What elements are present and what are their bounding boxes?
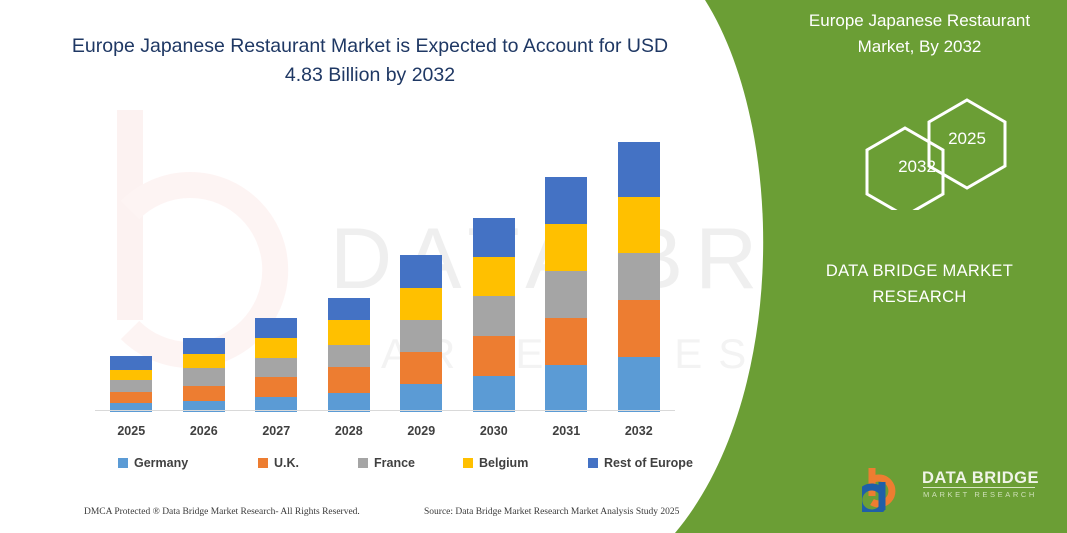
bar-segment-france-2031[interactable] [545,271,587,318]
legend-item-u-k-[interactable]: U.K. [258,456,299,470]
bar-2027[interactable] [255,318,297,413]
x-axis-label-2029: 2029 [385,424,457,438]
bar-segment-belgium-2032[interactable] [618,197,660,253]
bar-segment-belgium-2029[interactable] [400,288,442,320]
bar-segment-france-2027[interactable] [255,358,297,377]
stacked-bar-plot [95,120,675,412]
legend-swatch-icon [588,458,598,468]
legend-label: Germany [134,456,188,470]
hexagon-label-2032: 2032 [867,157,967,177]
infographic-root: DATA BRIDGE MARKET RESEARCH Europe Japan… [0,0,1067,533]
bar-2031[interactable] [545,177,587,412]
x-axis-label-2026: 2026 [168,424,240,438]
bar-segment-u-k--2032[interactable] [618,300,660,357]
bar-segment-rest-of-europe-2030[interactable] [473,218,515,257]
legend-item-belgium[interactable]: Belgium [463,456,528,470]
bar-segment-germany-2032[interactable] [618,357,660,412]
logo-tagline: MARKET RESEARCH [923,490,1037,499]
bar-segment-rest-of-europe-2031[interactable] [545,177,587,225]
bar-segment-rest-of-europe-2026[interactable] [183,338,225,354]
bar-segment-france-2032[interactable] [618,253,660,300]
x-axis-label-2027: 2027 [240,424,312,438]
x-axis-line [95,410,675,411]
legend-swatch-icon [463,458,473,468]
bar-segment-belgium-2026[interactable] [183,354,225,368]
logo-divider [923,487,1035,488]
bar-segment-france-2029[interactable] [400,320,442,352]
legend-swatch-icon [358,458,368,468]
x-axis-labels: 20252026202720282029203020312032 [95,424,675,444]
legend-label: U.K. [274,456,299,470]
footer-copyright: DMCA Protected ® Data Bridge Market Rese… [84,507,360,517]
bar-segment-belgium-2027[interactable] [255,338,297,357]
logo-name: DATA BRIDGE [922,469,1039,488]
bar-segment-france-2028[interactable] [328,345,370,368]
bar-segment-u-k--2031[interactable] [545,318,587,365]
bar-2032[interactable] [618,142,660,412]
bar-2025[interactable] [110,356,152,412]
panel-brand: DATA BRIDGE MARKET RESEARCH [787,258,1052,310]
hexagon-label-2025: 2025 [917,129,1017,149]
legend-item-germany[interactable]: Germany [118,456,188,470]
x-axis-label-2028: 2028 [313,424,385,438]
databridge-logo: DATA BRIDGE MARKET RESEARCH [862,466,1042,512]
bar-segment-rest-of-europe-2025[interactable] [110,356,152,371]
bar-segment-belgium-2028[interactable] [328,320,370,344]
bar-segment-u-k--2030[interactable] [473,336,515,376]
green-panel: Europe Japanese Restaurant Market, By 20… [667,0,1067,533]
bar-segment-u-k--2029[interactable] [400,352,442,384]
legend-label: France [374,456,415,470]
chart-legend: GermanyU.K.FranceBelgiumRest of Europe [118,456,678,474]
x-axis-label-2031: 2031 [530,424,602,438]
bar-2026[interactable] [183,338,225,412]
bar-segment-france-2030[interactable] [473,296,515,336]
legend-label: Belgium [479,456,528,470]
legend-swatch-icon [118,458,128,468]
legend-item-france[interactable]: France [358,456,415,470]
footer-source: Source: Data Bridge Market Research Mark… [424,507,679,517]
bar-segment-rest-of-europe-2032[interactable] [618,142,660,197]
bar-2030[interactable] [473,218,515,412]
bar-segment-belgium-2025[interactable] [110,370,152,380]
bar-segment-france-2025[interactable] [110,380,152,392]
bar-segment-u-k--2025[interactable] [110,392,152,403]
databridge-b-logo-icon [862,466,918,512]
legend-swatch-icon [258,458,268,468]
bar-segment-rest-of-europe-2029[interactable] [400,255,442,288]
bar-segment-rest-of-europe-2028[interactable] [328,298,370,321]
bar-segment-germany-2031[interactable] [545,365,587,412]
hexagon-group: 2032 2025 [787,95,1067,210]
bar-segment-germany-2030[interactable] [473,376,515,412]
panel-heading: Europe Japanese Restaurant Market, By 20… [787,8,1052,60]
bar-segment-u-k--2026[interactable] [183,386,225,401]
bar-2029[interactable] [400,255,442,412]
bar-segment-germany-2029[interactable] [400,384,442,412]
bar-segment-rest-of-europe-2027[interactable] [255,318,297,339]
bar-segment-u-k--2028[interactable] [328,367,370,393]
bar-segment-belgium-2031[interactable] [545,224,587,271]
bar-segment-u-k--2027[interactable] [255,377,297,397]
bar-2028[interactable] [328,298,370,412]
x-axis-label-2032: 2032 [603,424,675,438]
bar-segment-france-2026[interactable] [183,368,225,386]
bar-segment-belgium-2030[interactable] [473,257,515,296]
x-axis-label-2025: 2025 [95,424,167,438]
x-axis-label-2030: 2030 [458,424,530,438]
chart-title: Europe Japanese Restaurant Market is Exp… [60,32,680,90]
